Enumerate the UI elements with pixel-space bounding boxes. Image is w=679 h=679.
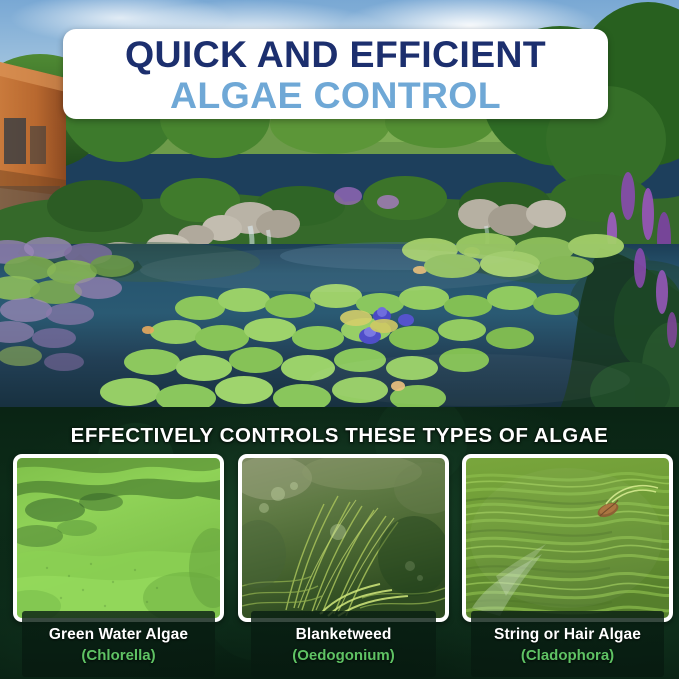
algae-common-name: String or Hair Algae bbox=[475, 625, 660, 644]
headline-card: QUICK AND EFFICIENT ALGAE CONTROL bbox=[63, 29, 608, 119]
algae-scientific-name: (Cladophora) bbox=[475, 646, 660, 665]
string-hair-algae-photo bbox=[466, 458, 669, 618]
photo-frame bbox=[238, 454, 449, 622]
card-label: String or Hair Algae (Cladophora) bbox=[471, 611, 664, 677]
card-label: Green Water Algae (Chlorella) bbox=[22, 611, 215, 677]
photo-frame bbox=[462, 454, 673, 622]
headline-line-1: QUICK AND EFFICIENT bbox=[125, 34, 546, 75]
headline-line-2: ALGAE CONTROL bbox=[170, 75, 501, 116]
algae-scientific-name: (Oedogonium) bbox=[255, 646, 432, 665]
section-heading: EFFECTIVELY CONTROLS THESE TYPES OF ALGA… bbox=[0, 424, 679, 448]
algae-types-section: EFFECTIVELY CONTROLS THESE TYPES OF ALGA… bbox=[0, 407, 679, 679]
string-hair-algae-illustration bbox=[466, 458, 669, 618]
blanketweed-illustration bbox=[242, 458, 445, 618]
photo-frame bbox=[13, 454, 224, 622]
algae-card: String or Hair Algae (Cladophora) bbox=[462, 454, 673, 622]
algae-common-name: Green Water Algae bbox=[26, 625, 211, 644]
algae-card: Blanketweed (Oedogonium) bbox=[238, 454, 449, 622]
product-infographic: QUICK AND EFFICIENT ALGAE CONTROL EFFECT… bbox=[0, 0, 679, 679]
algae-card: Green Water Algae (Chlorella) bbox=[13, 454, 224, 622]
green-water-algae-photo bbox=[17, 458, 220, 618]
algae-common-name: Blanketweed bbox=[255, 625, 432, 644]
algae-card-list: Green Water Algae (Chlorella) bbox=[0, 454, 679, 679]
card-label: Blanketweed (Oedogonium) bbox=[251, 611, 436, 677]
blanketweed-photo bbox=[242, 458, 445, 618]
algae-scientific-name: (Chlorella) bbox=[26, 646, 211, 665]
green-water-algae-illustration bbox=[17, 458, 220, 618]
